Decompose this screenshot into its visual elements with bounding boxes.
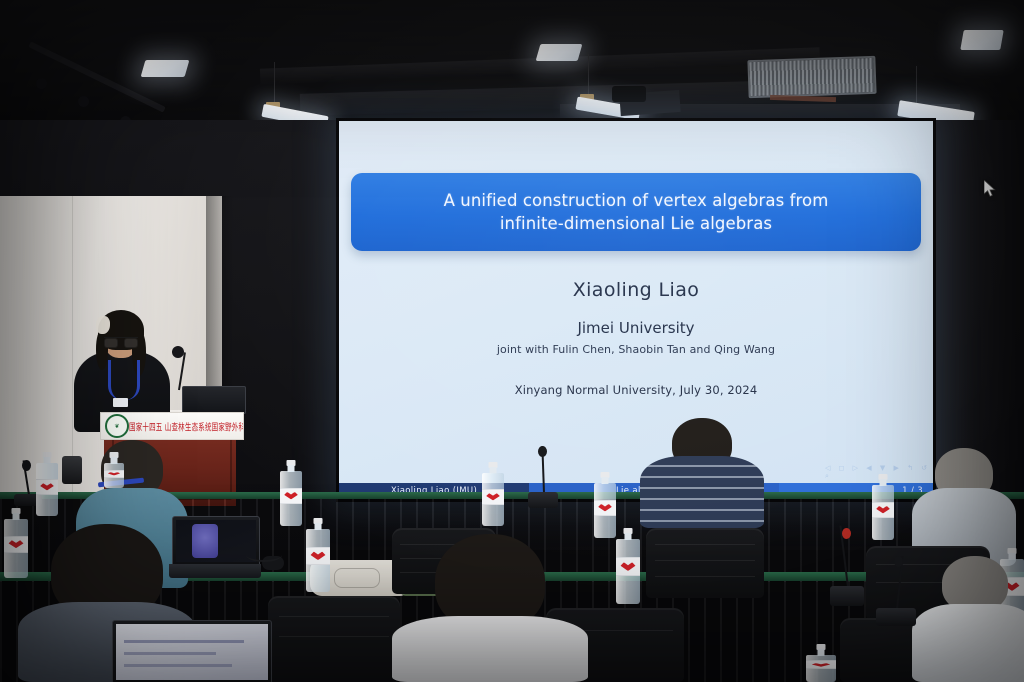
chair xyxy=(268,596,400,682)
laptop-screen-textline xyxy=(124,652,216,655)
presentation-slide[interactable]: A unified construction of vertex algebra… xyxy=(339,121,933,499)
speaker-badge xyxy=(113,398,128,407)
wall-panel-seam xyxy=(72,196,73,496)
water-bottle xyxy=(36,452,58,516)
recessed-panel-light xyxy=(536,44,583,61)
bag-print xyxy=(334,568,380,588)
recessed-panel-light xyxy=(960,30,1004,50)
mic-head xyxy=(22,460,31,471)
slide-title: A unified construction of vertex algebra… xyxy=(426,189,847,236)
chair xyxy=(646,528,764,598)
thermos-cup xyxy=(62,456,82,484)
attendee-white-shirt xyxy=(912,556,1024,682)
laptop-screen-textline xyxy=(124,664,232,667)
mic-base xyxy=(876,608,916,626)
water-bottle xyxy=(280,460,302,526)
mouse-cursor xyxy=(984,180,997,198)
slide-venue-date: Xinyang Normal University, July 30, 2024 xyxy=(339,383,933,397)
attendee-striped-polo xyxy=(640,418,764,528)
slide-joint-authors: joint with Fulin Chen, Shaobin Tan and Q… xyxy=(339,343,933,356)
mic-head xyxy=(842,528,851,539)
mic-head xyxy=(894,556,903,567)
attendee-laptop xyxy=(112,620,270,682)
slide-affiliation: Jimei University xyxy=(339,319,933,337)
slide-title-box: A unified construction of vertex algebra… xyxy=(351,173,921,251)
slide-author: Xiaoling Liao xyxy=(339,279,933,301)
speaker-lanyard xyxy=(108,360,140,400)
laptop-lid xyxy=(112,620,272,682)
speaker-hair-clip xyxy=(96,316,110,334)
desk-microphone xyxy=(528,446,558,508)
desk-microphone xyxy=(830,528,864,606)
attendee-torso xyxy=(392,616,588,682)
mic-base xyxy=(830,586,864,606)
podium-banner: ❦ 国家十四五 山查林生态系统国家野外科学观测研究站 xyxy=(100,412,244,440)
water-bottle xyxy=(306,518,330,592)
conference-room-photo: A unified construction of vertex algebra… xyxy=(0,0,1024,682)
slide-title-line2: infinite-dimensional Lie algebras xyxy=(500,214,772,233)
attendee-torso xyxy=(640,456,764,528)
pendant-wire xyxy=(916,66,917,108)
banner-emblem-icon: ❦ xyxy=(105,414,129,438)
pendant-wire xyxy=(274,62,275,104)
track-light-head xyxy=(78,96,89,107)
mic-base xyxy=(528,492,558,508)
desk-microphone xyxy=(876,556,916,626)
water-bottle xyxy=(806,644,836,682)
podium-microphone-head xyxy=(172,346,184,358)
attendee-torso xyxy=(912,604,1024,682)
recessed-panel-light xyxy=(141,60,190,77)
laptop-screen-textline xyxy=(124,640,244,643)
cable xyxy=(246,548,282,562)
pendant-wire xyxy=(588,54,589,96)
water-bottle xyxy=(616,528,640,604)
track-light-head xyxy=(36,78,47,89)
water-bottle xyxy=(104,452,124,488)
ceiling-hvac-vent xyxy=(747,56,876,98)
water-bottle xyxy=(872,474,894,540)
speaker-hair-left xyxy=(96,330,108,370)
speaker-glasses xyxy=(104,337,138,346)
water-bottle xyxy=(482,462,504,526)
mic-head xyxy=(538,446,547,457)
slide-title-line1: A unified construction of vertex algebra… xyxy=(444,191,829,210)
ceiling-projector xyxy=(612,86,646,102)
attendee-front-center-white xyxy=(392,534,588,682)
banner-text: 国家十四五 山查林生态系统国家野外科学观测研究站 xyxy=(129,419,243,434)
podium-laptop xyxy=(182,386,246,414)
water-bottle xyxy=(594,472,616,538)
